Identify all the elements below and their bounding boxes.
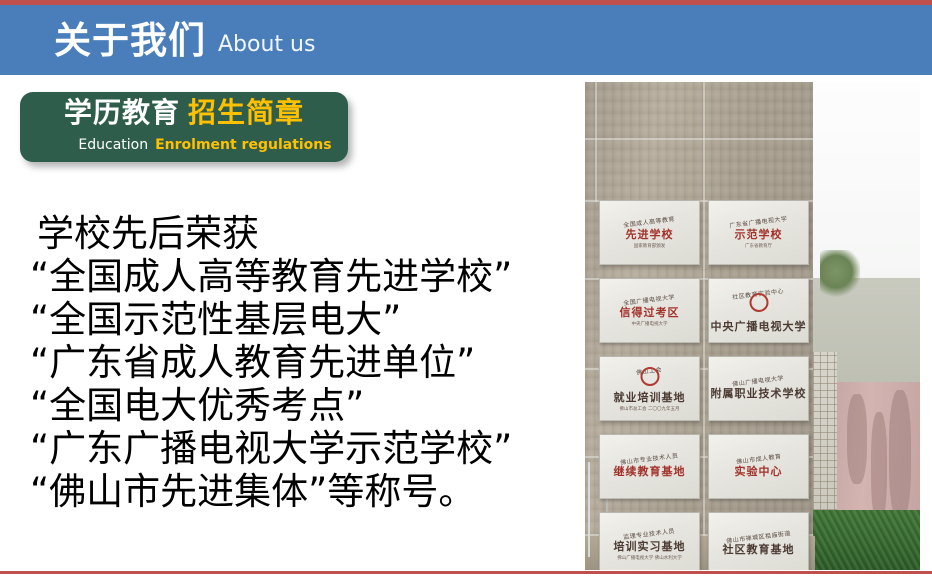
photo-plaque: 社区教育实验中心 中央广播电视大学 — [708, 278, 809, 343]
plaque-main-text: 附属职业技术学校 — [711, 388, 807, 399]
photo-relief-shape — [889, 390, 911, 520]
plaque-top-text: 佛山广播电视大学 — [732, 372, 785, 387]
photo-plaque: 佛山广播电视大学 附属职业技术学校 — [708, 356, 809, 421]
photo-grass — [813, 510, 920, 570]
honors-line: “全国成人高等教育先进学校” — [30, 255, 550, 298]
photo-plaque: 佛山市专业技术人员 继续教育基地 — [599, 434, 700, 499]
photo-relief-shape — [871, 412, 887, 522]
photo-wall-joint — [585, 138, 813, 140]
plaque-top-text: 监理专业技术人员 — [623, 525, 676, 540]
plaque-main-text: 实验中心 — [735, 466, 783, 477]
page-header: 关于我们 About us — [0, 5, 932, 75]
photo-plaque: 全国广播电视大学 信得过考区 中央广播电视大学 — [599, 278, 700, 343]
photo-plaque: 广东省广播电视大学 示范学校 广东省教育厅 — [708, 200, 809, 265]
photo-relief-shape — [847, 394, 867, 484]
page-title-english: About us — [218, 34, 315, 56]
photo-tree — [820, 250, 860, 298]
honors-line: “广东广播电视大学示范学校” — [30, 427, 550, 470]
photo-inner: 全国成人高等教育 先进学校 国家教育部颁发 广东省广播电视大学 示范学校 广东省… — [585, 82, 920, 570]
plaque-main-text: 培训实习基地 — [614, 541, 686, 552]
badge-label-enrolment-en: Enrolment regulations — [155, 137, 332, 153]
plaque-top-text: 全国广播电视大学 — [623, 291, 676, 306]
plaque-top-text: 佛山市成人教育 — [735, 451, 781, 465]
plaque-foot-text: 中央广播电视大学 — [632, 321, 668, 327]
plaque-foot-text: 广东省教育厅 — [745, 243, 772, 249]
honors-line: 学校先后荣获 — [30, 212, 550, 255]
plaque-main-text: 示范学校 — [735, 229, 783, 240]
plaque-main-text: 中央广播电视大学 — [711, 321, 807, 332]
union-emblem-icon — [640, 367, 659, 386]
section-badge: 学历教育招生简章 EducationEnrolment regulations — [20, 92, 348, 162]
crescent-emblem-icon — [749, 293, 768, 312]
photo-plaque: 佛山市成人教育 实验中心 — [708, 434, 809, 499]
honors-text-block: 学校先后荣获 “全国成人高等教育先进学校” “全国示范性基层电大” “广东省成人… — [30, 212, 550, 513]
plaque-main-text: 就业培训基地 — [614, 392, 686, 403]
plaque-foot-text: 国家教育部颁发 — [634, 243, 666, 249]
badge-main-row: 学历教育招生简章 — [20, 99, 348, 127]
plaque-top-text: 全国成人高等教育 — [623, 213, 676, 228]
photo-plaque: 佛山市禅城区祖庙街道 社区教育基地 — [708, 512, 809, 570]
plaque-top-text: 佛山市禅城区祖庙街道 — [726, 528, 792, 545]
honors-line: “广东省成人教育先进单位” — [30, 341, 550, 384]
photo-plaque: 佛山工会 就业培训基地 佛山市总工会 二〇〇九年五月 — [599, 356, 700, 421]
plaque-main-text: 继续教育基地 — [614, 466, 686, 477]
page-title-chinese: 关于我们 — [54, 22, 206, 59]
plaque-foot-text: 佛山市总工会 二〇〇九年五月 — [620, 406, 680, 412]
plaque-main-text: 社区教育基地 — [723, 544, 795, 555]
plaque-foot-text: 佛山广播电视大学 佛山水利大学 — [617, 555, 681, 561]
plaque-main-text: 先进学校 — [626, 229, 674, 240]
photo-plaque-grid: 全国成人高等教育 先进学校 国家教育部颁发 广东省广播电视大学 示范学校 广东省… — [599, 200, 809, 570]
plaque-main-text: 信得过考区 — [620, 307, 680, 318]
bottom-accent-rule — [0, 571, 932, 574]
photo-plaque: 监理专业技术人员 培训实习基地 佛山广播电视大学 佛山水利大学 — [599, 512, 700, 570]
honor-wall-photo: 全国成人高等教育 先进学校 国家教育部颁发 广东省广播电视大学 示范学校 广东省… — [585, 82, 920, 570]
photo-plaque: 全国成人高等教育 先进学校 国家教育部颁发 — [599, 200, 700, 265]
badge-label-enrolment-cn: 招生简章 — [188, 96, 304, 129]
plaque-top-text: 广东省广播电视大学 — [729, 213, 788, 229]
badge-label-education-en: Education — [78, 137, 148, 153]
honors-line: “全国电大优秀考点” — [30, 384, 550, 427]
honors-line: “全国示范性基层电大” — [30, 298, 550, 341]
honors-line: “佛山市先进集体”等称号。 — [30, 470, 550, 513]
badge-label-education-cn: 学历教育 — [64, 96, 180, 129]
badge-sub-row: EducationEnrolment regulations — [20, 136, 348, 152]
plaque-top-text: 佛山市专业技术人员 — [620, 450, 679, 466]
photo-wall-joint — [595, 82, 597, 202]
